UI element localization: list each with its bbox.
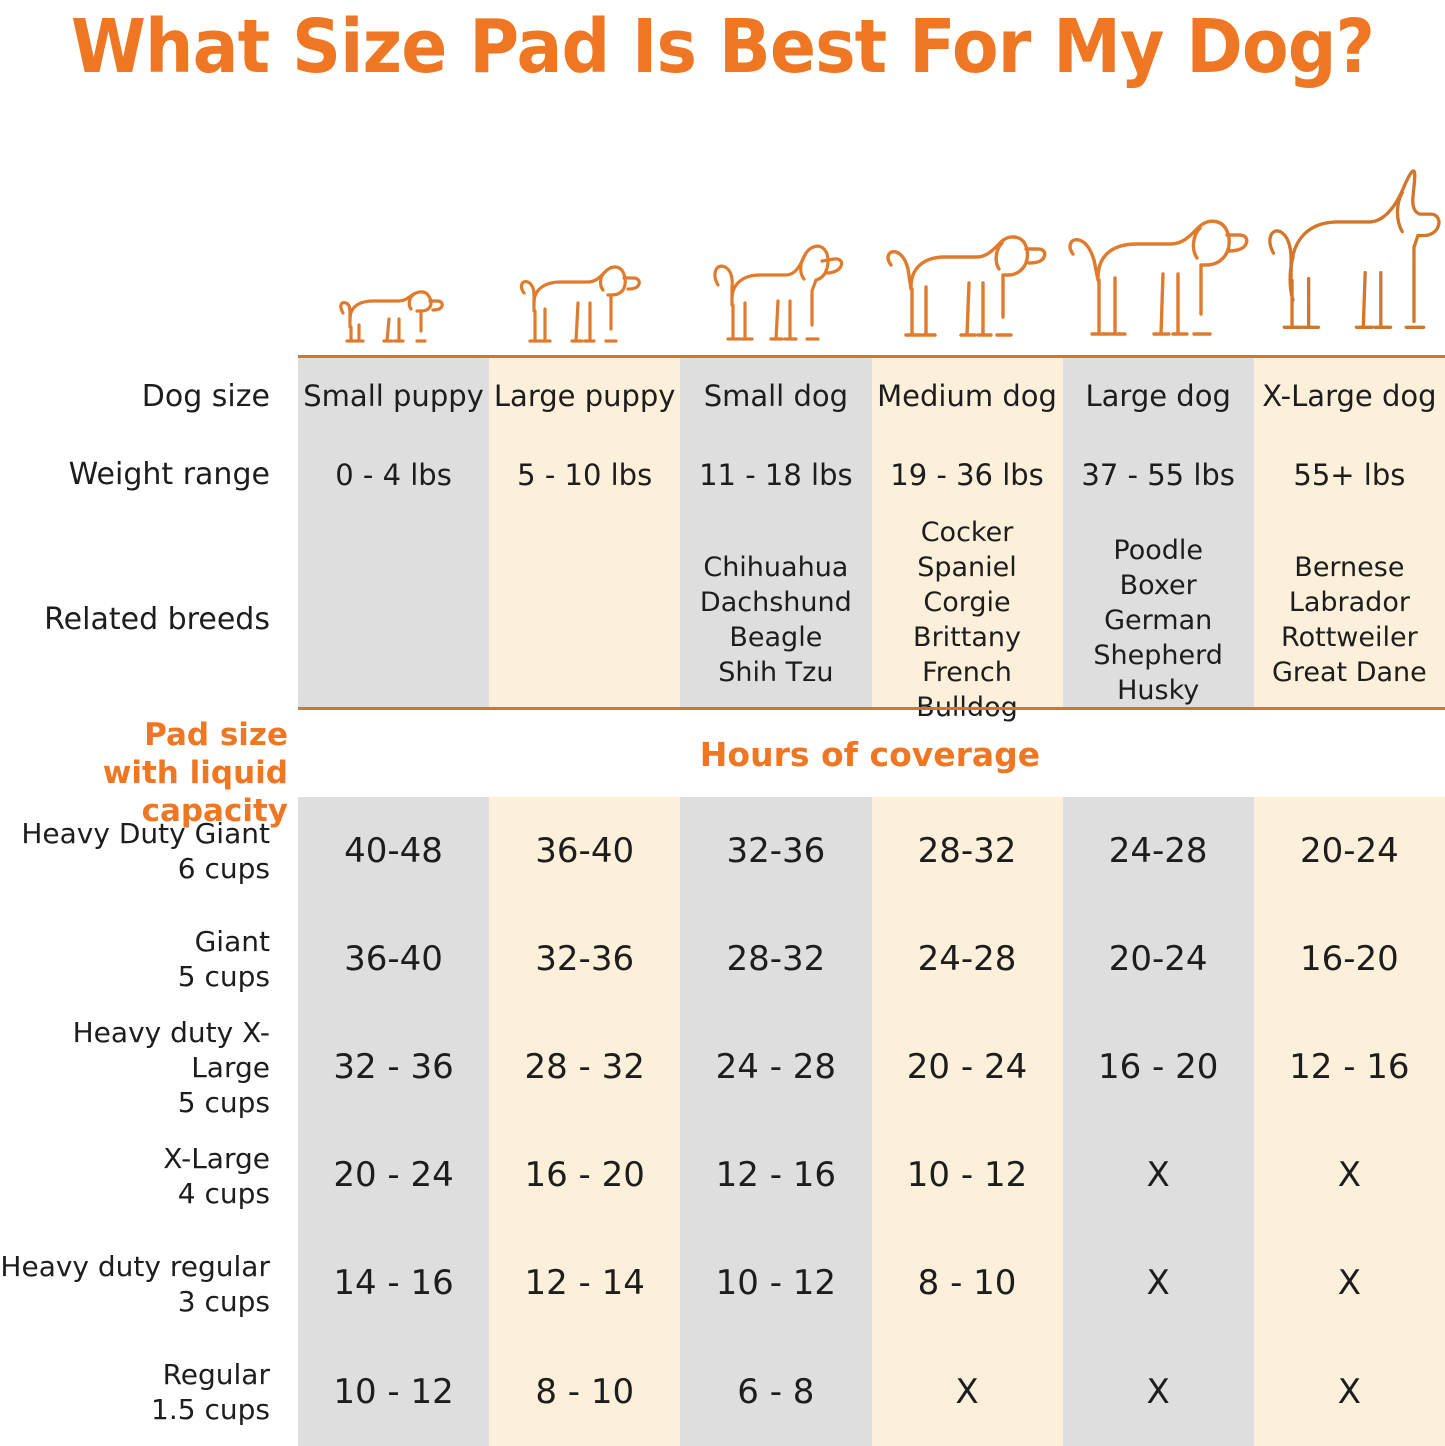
dog-pad-size-chart: What Size Pad Is Best For My Dog? bbox=[0, 0, 1445, 1446]
table-row-heavy-duty-x-large: Heavy duty X-Large 5 cups 32 - 36 28 - 3… bbox=[0, 1013, 1445, 1121]
large-puppy-dog-icon bbox=[489, 150, 680, 357]
cell-xl-large-dog: X bbox=[1063, 1122, 1254, 1230]
cell-weight-large-dog: 37 - 55 lbs bbox=[1063, 435, 1254, 515]
cell-breeds-small-dog: Chihuahua Dachshund Beagle Shih Tzu bbox=[680, 515, 871, 725]
cell-dog-size-large-dog: Large dog bbox=[1063, 358, 1254, 435]
table-row-weight-range: Weight range 0 - 4 lbs 5 - 10 lbs 11 - 1… bbox=[0, 435, 1445, 515]
cell-breeds-medium-dog: Cocker Spaniel Corgie Brittany French Bu… bbox=[871, 515, 1062, 725]
cell-dog-size-small-puppy: Small puppy bbox=[298, 358, 489, 435]
cell-hdgiant-large-dog: 24-28 bbox=[1063, 797, 1254, 905]
row-label-dog-size: Dog size bbox=[0, 358, 298, 435]
cell-hdreg-small-dog: 10 - 12 bbox=[680, 1230, 871, 1338]
cell-hdxl-large-dog: 16 - 20 bbox=[1063, 1013, 1254, 1121]
row-label-heavy-duty-x-large: Heavy duty X-Large 5 cups bbox=[0, 1013, 298, 1121]
row-label-heavy-duty-giant: Heavy Duty Giant 6 cups bbox=[0, 797, 298, 905]
cell-hdgiant-medium-dog: 28-32 bbox=[871, 797, 1062, 905]
hours-of-coverage-table: Heavy Duty Giant 6 cups 40-48 36-40 32-3… bbox=[0, 797, 1445, 1446]
cell-dog-size-medium-dog: Medium dog bbox=[871, 358, 1062, 435]
cell-hdxl-large-puppy: 28 - 32 bbox=[489, 1013, 680, 1121]
row-label-related-breeds: Related breeds bbox=[0, 515, 298, 725]
cell-dog-size-x-large-dog: X-Large dog bbox=[1254, 358, 1445, 435]
dog-attributes-table: Dog size Small puppy Large puppy Small d… bbox=[0, 358, 1445, 725]
cell-reg-small-puppy: 10 - 12 bbox=[298, 1338, 489, 1446]
cell-breeds-large-dog: Poodle Boxer German Shepherd Husky bbox=[1063, 515, 1254, 725]
small-dog-icon bbox=[680, 150, 871, 357]
small-puppy-dog-icon bbox=[298, 150, 489, 357]
cell-hdxl-x-large-dog: 12 - 16 bbox=[1254, 1013, 1445, 1121]
cell-hdgiant-large-puppy: 36-40 bbox=[489, 797, 680, 905]
row-label-weight-range: Weight range bbox=[0, 435, 298, 515]
cell-reg-large-puppy: 8 - 10 bbox=[489, 1338, 680, 1446]
cell-reg-medium-dog: X bbox=[871, 1338, 1062, 1446]
cell-hdgiant-x-large-dog: 20-24 bbox=[1254, 797, 1445, 905]
cell-giant-medium-dog: 24-28 bbox=[871, 905, 1062, 1013]
medium-dog-icon bbox=[872, 150, 1063, 357]
cell-breeds-x-large-dog: Bernese Labrador Rottweiler Great Dane bbox=[1254, 515, 1445, 725]
cell-hdxl-small-dog: 24 - 28 bbox=[680, 1013, 871, 1121]
hours-of-coverage-label: Hours of coverage bbox=[620, 735, 1120, 775]
cell-xl-small-dog: 12 - 16 bbox=[680, 1122, 871, 1230]
row-label-regular: Regular 1.5 cups bbox=[0, 1338, 298, 1446]
row-label-heavy-duty-regular: Heavy duty regular 3 cups bbox=[0, 1230, 298, 1338]
cell-hdreg-small-puppy: 14 - 16 bbox=[298, 1230, 489, 1338]
cell-giant-large-puppy: 32-36 bbox=[489, 905, 680, 1013]
cell-dog-size-large-puppy: Large puppy bbox=[489, 358, 680, 435]
cell-hdreg-x-large-dog: X bbox=[1254, 1230, 1445, 1338]
cell-xl-small-puppy: 20 - 24 bbox=[298, 1122, 489, 1230]
table-row-x-large: X-Large 4 cups 20 - 24 16 - 20 12 - 16 1… bbox=[0, 1122, 1445, 1230]
cell-weight-medium-dog: 19 - 36 lbs bbox=[871, 435, 1062, 515]
page-title: What Size Pad Is Best For My Dog? bbox=[58, 4, 1387, 90]
cell-hdxl-small-puppy: 32 - 36 bbox=[298, 1013, 489, 1121]
table-row-heavy-duty-regular: Heavy duty regular 3 cups 14 - 16 12 - 1… bbox=[0, 1230, 1445, 1338]
cell-weight-large-puppy: 5 - 10 lbs bbox=[489, 435, 680, 515]
cell-weight-small-dog: 11 - 18 lbs bbox=[680, 435, 871, 515]
cell-giant-large-dog: 20-24 bbox=[1063, 905, 1254, 1013]
cell-weight-small-puppy: 0 - 4 lbs bbox=[298, 435, 489, 515]
section-divider-rule bbox=[298, 707, 1445, 710]
cell-xl-x-large-dog: X bbox=[1254, 1122, 1445, 1230]
table-row-giant: Giant 5 cups 36-40 32-36 28-32 24-28 20-… bbox=[0, 905, 1445, 1013]
row-label-giant: Giant 5 cups bbox=[0, 905, 298, 1013]
cell-xl-large-puppy: 16 - 20 bbox=[489, 1122, 680, 1230]
cell-giant-x-large-dog: 16-20 bbox=[1254, 905, 1445, 1013]
cell-hdgiant-small-puppy: 40-48 bbox=[298, 797, 489, 905]
cell-breeds-small-puppy bbox=[298, 515, 489, 725]
cell-dog-size-small-dog: Small dog bbox=[680, 358, 871, 435]
cell-hdxl-medium-dog: 20 - 24 bbox=[871, 1013, 1062, 1121]
cell-reg-large-dog: X bbox=[1063, 1338, 1254, 1446]
table-row-regular: Regular 1.5 cups 10 - 12 8 - 10 6 - 8 X … bbox=[0, 1338, 1445, 1446]
cell-weight-x-large-dog: 55+ lbs bbox=[1254, 435, 1445, 515]
cell-breeds-large-puppy bbox=[489, 515, 680, 725]
cell-hdreg-medium-dog: 8 - 10 bbox=[871, 1230, 1062, 1338]
cell-hdgiant-small-dog: 32-36 bbox=[680, 797, 871, 905]
cell-hdreg-large-puppy: 12 - 14 bbox=[489, 1230, 680, 1338]
cell-reg-small-dog: 6 - 8 bbox=[680, 1338, 871, 1446]
row-label-x-large: X-Large 4 cups bbox=[0, 1122, 298, 1230]
table-row-related-breeds: Related breeds Chihuahua Dachshund Beagl… bbox=[0, 515, 1445, 725]
cell-giant-small-dog: 28-32 bbox=[680, 905, 871, 1013]
cell-giant-small-puppy: 36-40 bbox=[298, 905, 489, 1013]
table-row-heavy-duty-giant: Heavy Duty Giant 6 cups 40-48 36-40 32-3… bbox=[0, 797, 1445, 905]
cell-hdreg-large-dog: X bbox=[1063, 1230, 1254, 1338]
cell-xl-medium-dog: 10 - 12 bbox=[871, 1122, 1062, 1230]
dog-silhouette-row bbox=[298, 150, 1445, 357]
table-row-dog-size: Dog size Small puppy Large puppy Small d… bbox=[0, 358, 1445, 435]
large-dog-icon bbox=[1063, 150, 1254, 357]
cell-reg-x-large-dog: X bbox=[1254, 1338, 1445, 1446]
x-large-dog-icon bbox=[1254, 150, 1445, 357]
